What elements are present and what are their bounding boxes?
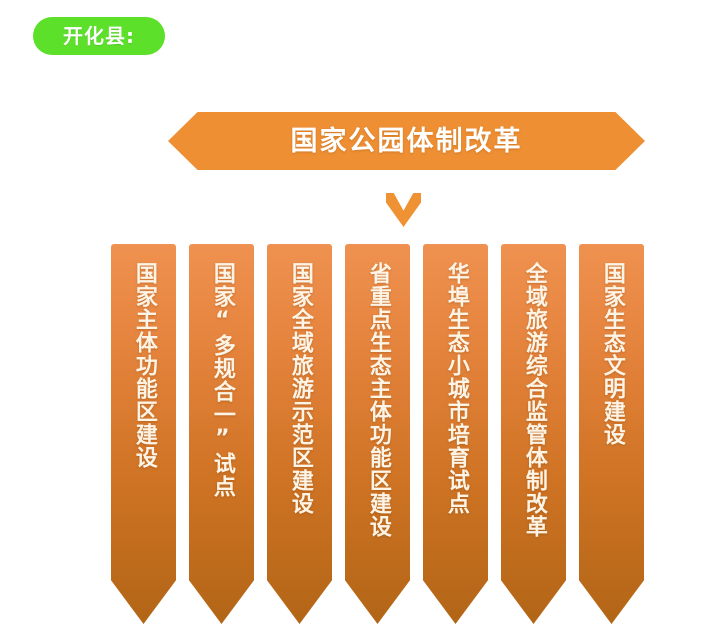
ribbon-item-label: 国家主体功能区建设 — [131, 262, 156, 562]
region-badge: 开化县: — [33, 17, 165, 55]
ribbon-item-label: 全域旅游综合监管体制改革 — [521, 262, 546, 562]
ribbon-item: 华埠生态小城市培育试点 — [423, 244, 488, 624]
ribbon-item: 国家主体功能区建设 — [111, 244, 176, 624]
region-badge-label: 开化县: — [63, 26, 135, 46]
ribbon-item-label: 国家生态文明建设 — [599, 262, 624, 562]
chevron-down-icon — [386, 193, 421, 227]
ribbon-item-label: 华埠生态小城市培育试点 — [443, 262, 468, 562]
ribbon-item: 国家生态文明建设 — [579, 244, 644, 624]
infographic-canvas: 开化县: 国家公园体制改革 国家主体功能区建设 国家“多规合一”试点 国家全域旅… — [0, 0, 717, 644]
ribbon-item: 国家全域旅游示范区建设 — [267, 244, 332, 624]
ribbon-item: 国家“多规合一”试点 — [189, 244, 254, 624]
ribbon-item-label: 国家全域旅游示范区建设 — [287, 262, 312, 562]
ribbon-item: 省重点生态主体功能区建设 — [345, 244, 410, 624]
header-banner: 国家公园体制改革 — [168, 112, 645, 170]
ribbon-item-label: 省重点生态主体功能区建设 — [365, 262, 390, 562]
page-title: 国家公园体制改革 — [291, 128, 523, 155]
ribbon-item: 全域旅游综合监管体制改革 — [501, 244, 566, 624]
ribbon-list: 国家主体功能区建设 国家“多规合一”试点 国家全域旅游示范区建设 省重点生态主体… — [111, 244, 645, 624]
ribbon-item-label: 国家“多规合一”试点 — [209, 262, 234, 562]
